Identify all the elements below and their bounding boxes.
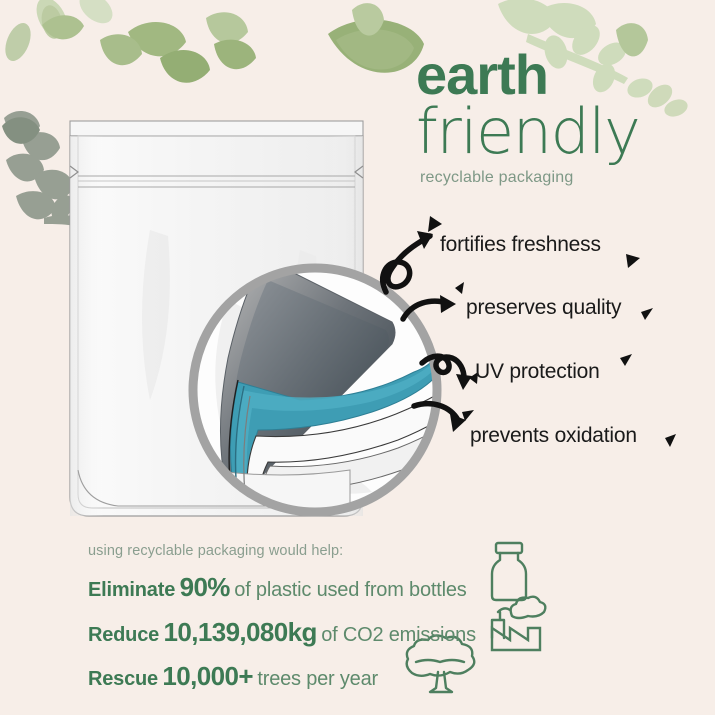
annotation-label-preserves-quality: preserves quality [466,296,621,320]
page-title-line1: earth [416,48,706,101]
stats-caption: using recyclable packaging would help: [88,543,343,559]
stat-value: 90% [180,572,230,602]
annotation-label-prevents-oxidation: prevents oxidation [470,424,637,448]
stat-lead: Reduce [88,624,159,646]
page-subtitle: recyclable packaging [420,169,706,187]
stat-tail: of CO2 emissions [321,624,476,646]
infographic-canvas: earth friendly recyclable packaging fort… [0,0,715,715]
annotation-label-uv-protection: UV protection [475,360,600,384]
stat-tail: trees per year [257,668,378,690]
stat-row-eliminate: Eliminate 90% of plastic used from bottl… [88,572,467,603]
stat-lead: Rescue [88,668,158,690]
stat-value: 10,139,080kg [164,617,317,647]
stat-row-reduce: Reduce 10,139,080kg of CO2 emissions [88,617,476,648]
annotation-label-fortifies-freshness: fortifies freshness [440,233,601,257]
page-title-line2: friendly [416,101,706,163]
stat-tail: of plastic used from bottles [234,579,466,601]
bottle-icon [492,543,526,600]
headline-group: earth friendly recyclable packaging [416,48,706,187]
factory-icon [492,597,545,650]
stat-lead: Eliminate [88,579,175,601]
stat-value: 10,000+ [162,661,253,691]
stat-row-rescue: Rescue 10,000+ trees per year [88,661,378,692]
